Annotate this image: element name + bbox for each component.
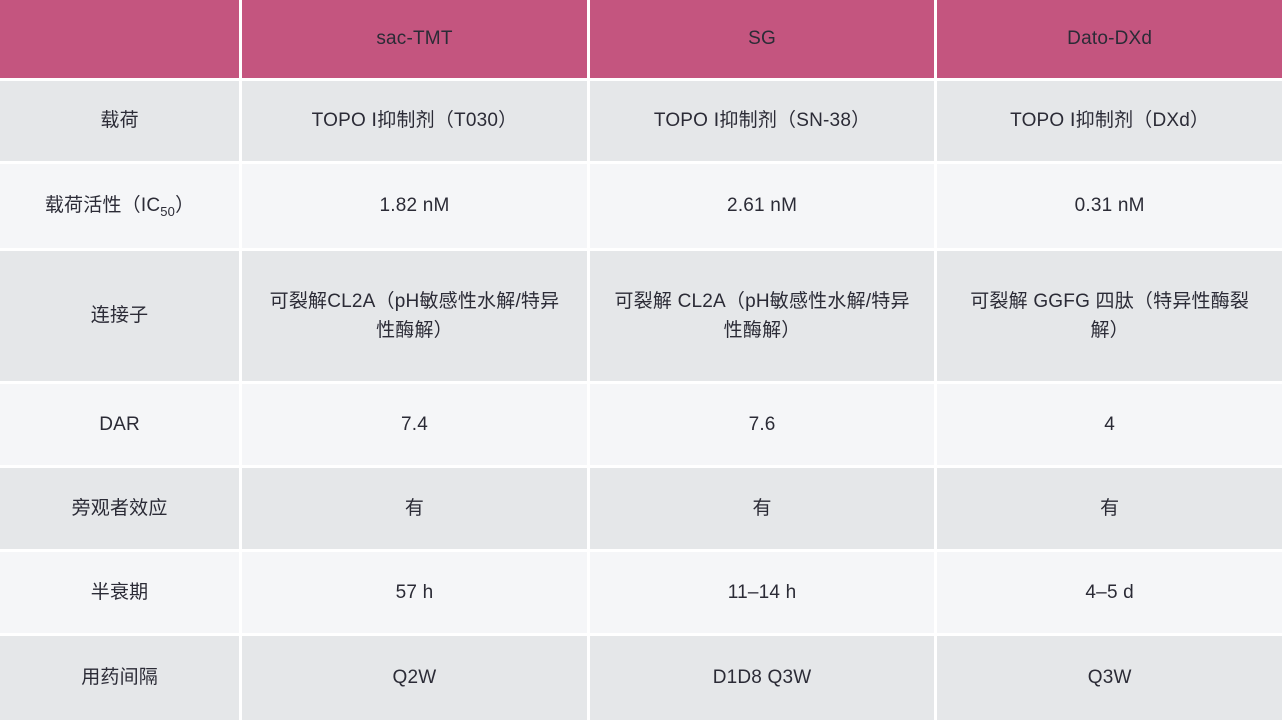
row-label-payload: 载荷 xyxy=(0,81,239,161)
comparison-table-container: sac-TMT SG Dato-DXd 载荷 TOPO Ⅰ抑制剂（T030） T… xyxy=(0,0,1288,651)
table-header: sac-TMT SG Dato-DXd xyxy=(0,0,1282,78)
cell-half-life-dato-dxd: 4–5 d xyxy=(937,552,1282,633)
row-label-bystander-effect: 旁观者效应 xyxy=(0,468,239,549)
cell-half-life-sac-tmt: 57 h xyxy=(242,552,587,633)
row-label-payload-activity-suffix: ） xyxy=(175,195,194,216)
cell-payload-activity-sg: 2.61 nM xyxy=(590,164,935,248)
cell-dosing-interval-sg: D1D8 Q3W xyxy=(590,636,935,720)
cell-linker-dato-dxd-text: 可裂解 GGFG 四肽（特异性酶裂解） xyxy=(960,287,1260,346)
table-row: DAR 7.4 7.6 4 xyxy=(0,384,1282,465)
cell-payload-sac-tmt: TOPO Ⅰ抑制剂（T030） xyxy=(242,81,587,161)
row-label-payload-activity: 载荷活性（IC50） xyxy=(0,164,239,248)
cell-linker-sg-text: 可裂解 CL2A（pH敏感性水解/特异性酶解） xyxy=(612,287,912,346)
row-label-dar: DAR xyxy=(0,384,239,465)
cell-linker-sg: 可裂解 CL2A（pH敏感性水解/特异性酶解） xyxy=(590,251,935,381)
cell-payload-activity-dato-dxd: 0.31 nM xyxy=(937,164,1282,248)
cell-dar-sac-tmt: 7.4 xyxy=(242,384,587,465)
table-row: 用药间隔 Q2W D1D8 Q3W Q3W xyxy=(0,636,1282,720)
row-label-linker: 连接子 xyxy=(0,251,239,381)
cell-bystander-effect-dato-dxd: 有 xyxy=(937,468,1282,549)
header-row: sac-TMT SG Dato-DXd xyxy=(0,0,1282,78)
cell-dosing-interval-sac-tmt: Q2W xyxy=(242,636,587,720)
cell-linker-dato-dxd: 可裂解 GGFG 四肽（特异性酶裂解） xyxy=(937,251,1282,381)
table-row: 载荷 TOPO Ⅰ抑制剂（T030） TOPO Ⅰ抑制剂（SN-38） TOPO… xyxy=(0,81,1282,161)
column-header-sg: SG xyxy=(590,0,935,78)
row-label-payload-activity-subscript: 50 xyxy=(160,204,175,219)
cell-dar-dato-dxd: 4 xyxy=(937,384,1282,465)
table-body: 载荷 TOPO Ⅰ抑制剂（T030） TOPO Ⅰ抑制剂（SN-38） TOPO… xyxy=(0,81,1282,720)
table-row: 旁观者效应 有 有 有 xyxy=(0,468,1282,549)
table-row: 半衰期 57 h 11–14 h 4–5 d xyxy=(0,552,1282,633)
cell-payload-sg: TOPO Ⅰ抑制剂（SN-38） xyxy=(590,81,935,161)
cell-linker-sac-tmt-text: 可裂解CL2A（pH敏感性水解/特异性酶解） xyxy=(264,287,564,346)
table-row: 连接子 可裂解CL2A（pH敏感性水解/特异性酶解） 可裂解 CL2A（pH敏感… xyxy=(0,251,1282,381)
cell-linker-sac-tmt: 可裂解CL2A（pH敏感性水解/特异性酶解） xyxy=(242,251,587,381)
cell-bystander-effect-sg: 有 xyxy=(590,468,935,549)
row-label-payload-activity-text: 载荷活性（IC xyxy=(45,195,160,216)
cell-dar-sg: 7.6 xyxy=(590,384,935,465)
row-label-dosing-interval: 用药间隔 xyxy=(0,636,239,720)
adc-comparison-table: sac-TMT SG Dato-DXd 载荷 TOPO Ⅰ抑制剂（T030） T… xyxy=(0,0,1285,723)
row-label-half-life: 半衰期 xyxy=(0,552,239,633)
cell-payload-dato-dxd: TOPO Ⅰ抑制剂（DXd） xyxy=(937,81,1282,161)
cell-half-life-sg: 11–14 h xyxy=(590,552,935,633)
column-header-sac-tmt: sac-TMT xyxy=(242,0,587,78)
table-row: 载荷活性（IC50） 1.82 nM 2.61 nM 0.31 nM xyxy=(0,164,1282,248)
header-corner-cell xyxy=(0,0,239,78)
column-header-dato-dxd: Dato-DXd xyxy=(937,0,1282,78)
cell-dosing-interval-dato-dxd: Q3W xyxy=(937,636,1282,720)
cell-bystander-effect-sac-tmt: 有 xyxy=(242,468,587,549)
cell-payload-activity-sac-tmt: 1.82 nM xyxy=(242,164,587,248)
